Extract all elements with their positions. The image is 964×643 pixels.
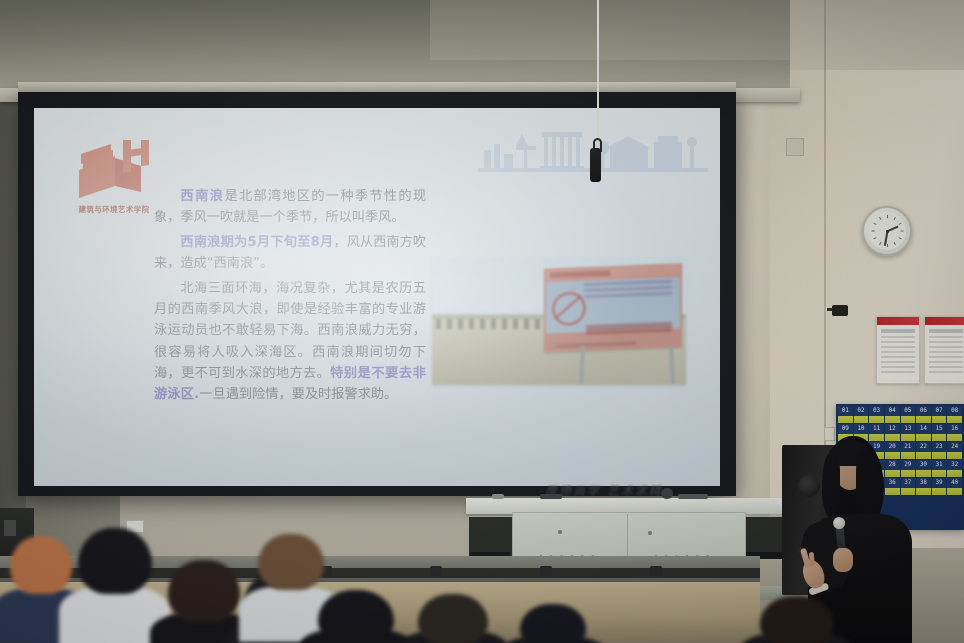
poster-title-line <box>929 329 963 333</box>
wall-clock <box>862 206 912 256</box>
logo-institution-name: 建筑与环境艺术学院 <box>62 204 166 215</box>
phone-pocket[interactable]: 02 <box>854 406 869 423</box>
middle-finger <box>809 552 815 566</box>
poster-body-lines <box>881 336 915 373</box>
wall-camera-icon <box>832 305 848 316</box>
audience-member-head <box>318 590 394 643</box>
computer-mouse[interactable] <box>492 494 504 499</box>
audience-member-head <box>418 594 488 643</box>
poster-header-bar <box>925 317 964 325</box>
ceiling-beam <box>430 0 790 60</box>
console-lock-right[interactable] <box>648 531 652 535</box>
slide-paragraph-1: 西南浪是北部湾地区的一种季节性的现象，季风一吹就是一个季节，所以叫季风。 <box>154 186 426 229</box>
phone-pocket[interactable]: 39 <box>932 478 947 495</box>
no-swimming-icon <box>552 291 586 326</box>
wall-panel <box>786 138 804 156</box>
audience-member-head <box>168 560 240 622</box>
phone-pocket[interactable]: 23 <box>932 442 947 459</box>
highlight-run-1: 西南浪 <box>180 189 224 204</box>
projection-screen[interactable]: 建筑与环境艺术学院 西南浪是北部湾地区的一种季节性的现象，季风一吹就是一个季节，… <box>34 108 720 486</box>
audience-member-head <box>258 534 324 590</box>
architecture-logo-icon <box>71 140 157 200</box>
slide-text-block: 西南浪是北部湾地区的一种季节性的现象，季风一吹就是一个季节，所以叫季风。 西南浪… <box>154 186 426 409</box>
slide-paragraph-3: 北海三面环海，海况复杂，尤其是农历五月的西南季风大浪，即使是经验丰富的专业游泳运… <box>154 278 426 406</box>
notice-poster-2 <box>924 316 964 384</box>
rack-slot <box>4 520 16 536</box>
audience-member-head <box>520 604 586 643</box>
college-logo: 建筑与环境艺术学院 <box>62 140 166 215</box>
poster-body-lines <box>929 336 963 373</box>
desk-clip <box>540 566 552 576</box>
right-wall-upper <box>760 0 964 70</box>
sign-header-bar <box>550 270 610 278</box>
phone-pocket[interactable]: 24 <box>947 442 962 459</box>
desk-tray <box>678 494 708 499</box>
presenter-mic-hand <box>833 548 853 572</box>
poster-header-bar <box>877 317 919 325</box>
pull-cord-handle[interactable] <box>590 148 601 182</box>
no-swimming-sign <box>544 263 682 352</box>
phone-pocket[interactable]: 07 <box>932 406 947 423</box>
sign-footer <box>556 341 636 348</box>
phone-pocket[interactable]: 01 <box>838 406 853 423</box>
screen-pull-cord[interactable] <box>597 0 599 160</box>
phone-pocket[interactable]: 40 <box>947 478 962 495</box>
phone-pocket[interactable]: 06 <box>916 406 931 423</box>
console-lock-left[interactable] <box>558 530 562 534</box>
control-pad[interactable] <box>540 494 562 499</box>
phone-pocket[interactable]: 05 <box>901 406 916 423</box>
clock-face <box>868 212 906 250</box>
lecture-hall-photo: 建筑与环境艺术学院 西南浪是北部湾地区的一种季节性的现象，季风一吹就是一个季节，… <box>0 0 964 643</box>
phone-pocket[interactable]: 03 <box>869 406 884 423</box>
phone-pocket[interactable]: 31 <box>932 460 947 477</box>
phone-pocket[interactable]: 08 <box>947 406 962 423</box>
poster-title-line <box>881 329 915 333</box>
desk-microphone[interactable] <box>661 488 673 499</box>
sign-body-text <box>584 280 672 301</box>
phone-pocket[interactable]: 16 <box>947 424 962 441</box>
presenter-hair-left <box>822 454 840 516</box>
clock-center-pin <box>886 230 889 233</box>
audience-member-head <box>78 528 152 594</box>
slide-paragraph-2: 西南浪期为5月下旬至8月，风从西南方吹来，造成“西南浪”。 <box>154 232 426 275</box>
desk-clip <box>430 566 442 576</box>
audience-member-head <box>10 536 72 594</box>
phone-pocket[interactable]: 04 <box>885 406 900 423</box>
phone-pocket[interactable]: 32 <box>947 460 962 477</box>
warning-sign-photo <box>432 258 686 385</box>
sign-main-warning <box>586 322 672 335</box>
clock-hour-hand <box>888 226 899 232</box>
phone-pocket[interactable]: 15 <box>932 424 947 441</box>
audience-member-head <box>760 596 834 643</box>
normal-run-3b: 一旦遇到险情，要及时报警求助。 <box>199 387 397 402</box>
desk-clip <box>650 566 662 576</box>
notice-poster-1 <box>876 316 920 384</box>
highlight-run-2: 西南浪期为5月下旬至8月 <box>180 235 333 250</box>
